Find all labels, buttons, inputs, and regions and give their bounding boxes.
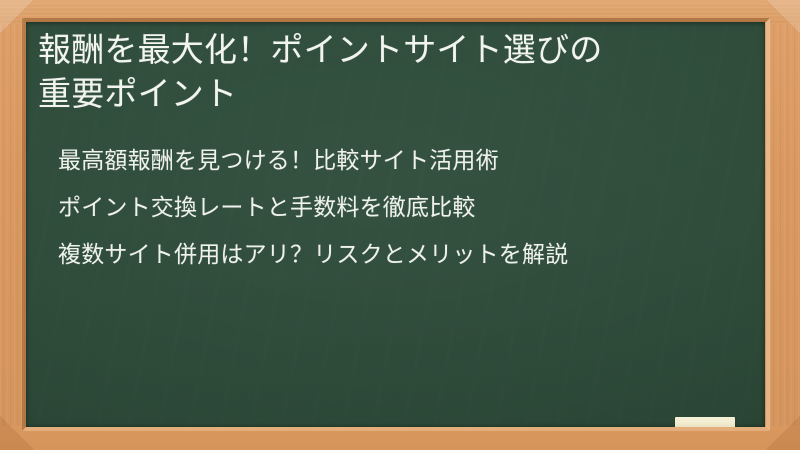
bullet-item-3: 複数サイト併用はアリ？リスクとメリットを解説 [58,242,758,266]
bullet-item-2: ポイント交換レートと手数料を徹底比較 [58,195,758,219]
chalk-stick-icon [675,417,735,427]
slide-content: 報酬を最大化！ポイントサイト選びの 重要ポイント 最高額報酬を見つける！比較サイ… [26,22,765,427]
bullet-list: 最高額報酬を見つける！比較サイト活用術 ポイント交換レートと手数料を徹底比較 複… [58,148,758,266]
chalkboard-surface: 報酬を最大化！ポイントサイト選びの 重要ポイント 最高額報酬を見つける！比較サイ… [26,22,765,427]
slide-title: 報酬を最大化！ポイントサイト選びの 重要ポイント [38,28,752,115]
chalkboard-slide: 報酬を最大化！ポイントサイト選びの 重要ポイント 最高額報酬を見つける！比較サイ… [0,0,800,450]
bullet-item-1: 最高額報酬を見つける！比較サイト活用術 [58,148,758,172]
